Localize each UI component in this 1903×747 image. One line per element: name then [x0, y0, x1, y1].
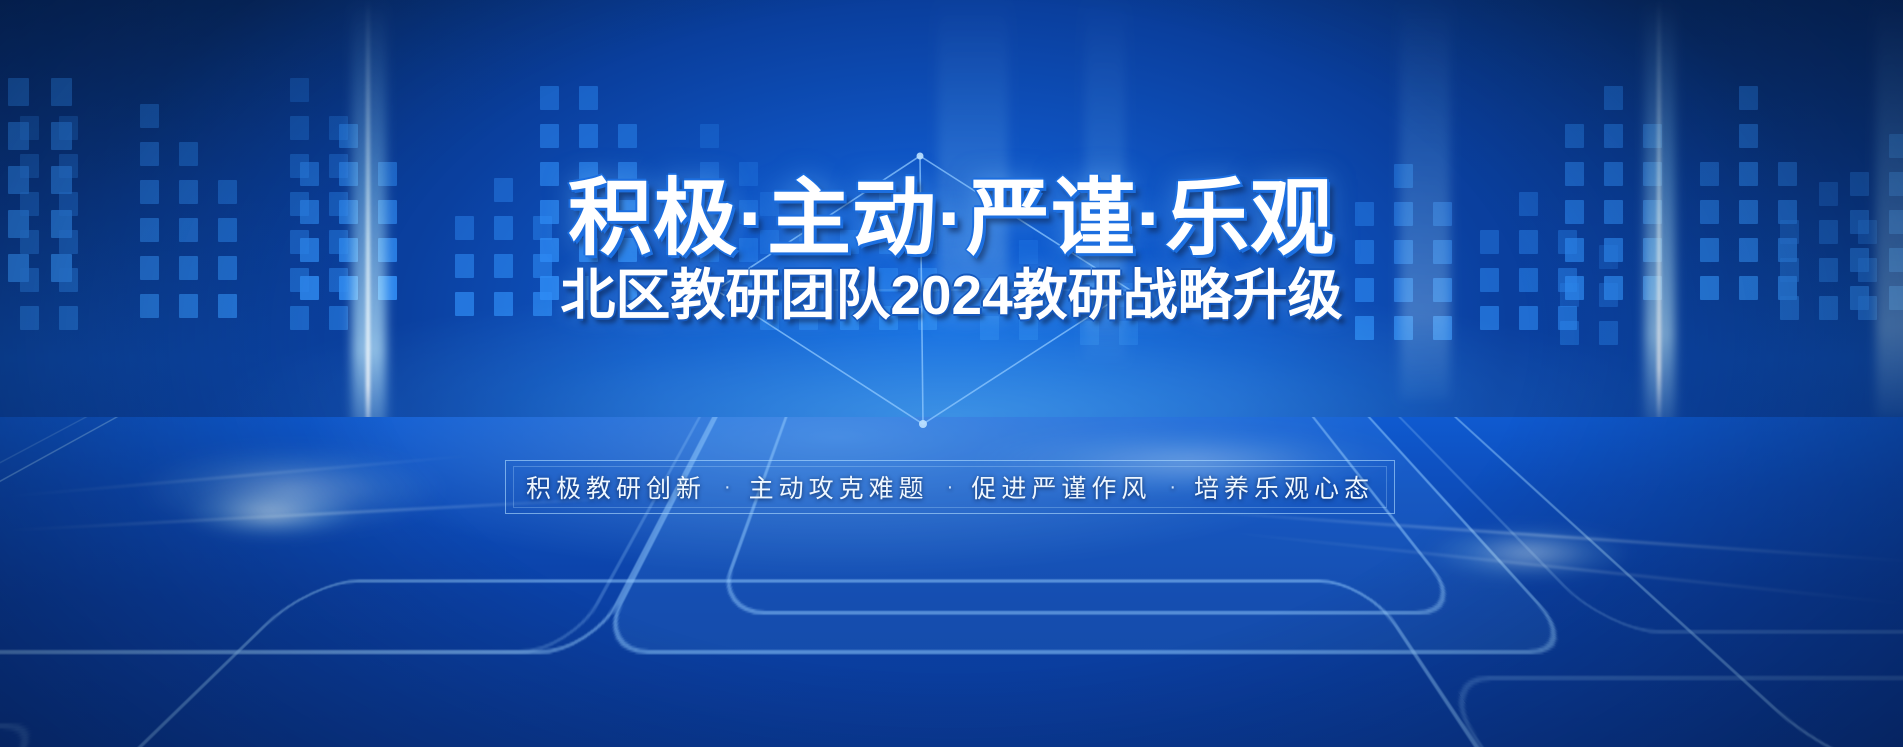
tagline-bar: 积极教研创新·主动攻克难题·促进严谨作风·培养乐观心态 [505, 460, 1395, 514]
tagline-separator: · [1169, 476, 1176, 499]
headline-text: 积极·主动·严谨·乐观 [568, 176, 1335, 260]
banner-root: 积极·主动·严谨·乐观 北区教研团队2024教研战略升级 积极教研创新·主动攻克… [0, 0, 1903, 747]
tagline-text-row: 积极教研创新·主动攻克难题·促进严谨作风·培养乐观心态 [505, 460, 1395, 514]
banner-content: 积极·主动·严谨·乐观 北区教研团队2024教研战略升级 积极教研创新·主动攻克… [0, 0, 1903, 747]
tagline-segment: 促进严谨作风 [971, 469, 1151, 505]
page-subtitle: 北区教研团队2024教研战略升级 [0, 268, 1903, 323]
page-title: 积极·主动·严谨·乐观 [0, 176, 1903, 260]
tagline-separator: · [947, 476, 954, 499]
tagline-segment: 培养乐观心态 [1194, 469, 1374, 505]
tagline-separator: · [724, 476, 731, 499]
subheadline-text: 北区教研团队2024教研战略升级 [560, 268, 1342, 323]
tagline-segment: 积极教研创新 [526, 469, 706, 505]
tagline-segment: 主动攻克难题 [749, 469, 929, 505]
